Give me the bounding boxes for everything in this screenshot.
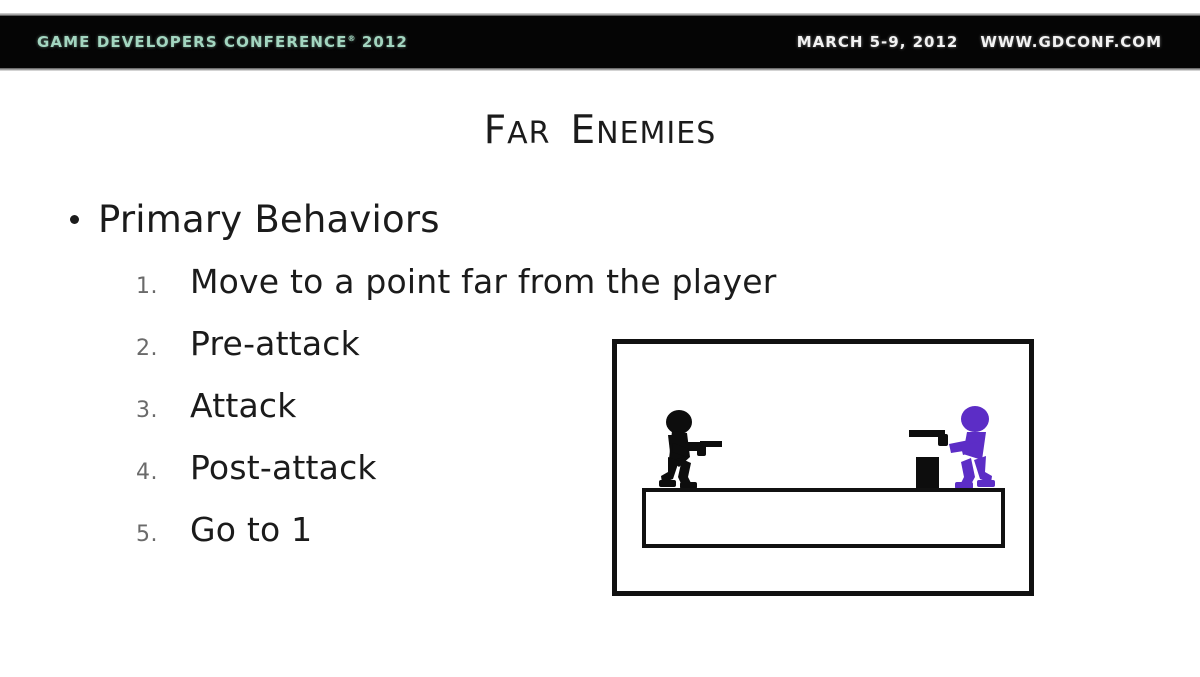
title-smallcaps-nemies: NEMIES bbox=[596, 104, 716, 154]
list-item: 4. Post-attack bbox=[136, 448, 656, 510]
far-enemy-diagram bbox=[612, 339, 1034, 596]
page-title: FARENEMIES bbox=[0, 96, 1200, 155]
list-item: 3. Attack bbox=[136, 386, 656, 448]
header-right-info: MARCH 5-9, 2012 WWW.GDCONF.COM bbox=[797, 33, 1162, 51]
list-item-number: 2. bbox=[136, 336, 190, 361]
header-bar-bottom-rule bbox=[0, 68, 1200, 71]
list-item-number: 4. bbox=[136, 460, 190, 485]
list-item-label: Move to a point far from the player bbox=[190, 262, 777, 301]
player-figure-icon bbox=[659, 409, 729, 491]
list-item-label: Go to 1 bbox=[190, 510, 312, 549]
list-item: 5. Go to 1 bbox=[136, 510, 656, 572]
slide-canvas: GAME DEVELOPERS CONFERENCE® 2012 MARCH 5… bbox=[0, 0, 1200, 677]
list-item: 1. Move to a point far from the player bbox=[136, 262, 656, 324]
diagram-inner-area bbox=[617, 344, 1029, 591]
conference-dates: MARCH 5-9, 2012 bbox=[797, 33, 959, 51]
top-white-strip bbox=[0, 0, 1200, 13]
title-cap-f: F bbox=[484, 92, 507, 157]
conference-year: 2012 bbox=[362, 33, 408, 51]
list-item-label: Pre-attack bbox=[190, 324, 360, 363]
list-item-number: 1. bbox=[136, 274, 190, 299]
title-word-far: FAR bbox=[484, 96, 551, 155]
ground-platform bbox=[642, 488, 1005, 548]
trademark-symbol: ® bbox=[347, 34, 355, 43]
list-item-number: 5. bbox=[136, 522, 190, 547]
conference-website: WWW.GDCONF.COM bbox=[980, 33, 1162, 51]
bullet-dot-icon bbox=[70, 215, 79, 224]
title-cap-e: E bbox=[571, 92, 597, 157]
gdc-header-bar: GAME DEVELOPERS CONFERENCE® 2012 MARCH 5… bbox=[0, 16, 1200, 68]
list-item-label: Attack bbox=[190, 386, 297, 425]
gdc-logo-text: GAME DEVELOPERS CONFERENCE® 2012 bbox=[37, 33, 408, 51]
list-item: 2. Pre-attack bbox=[136, 324, 656, 386]
enemy-pistol-icon bbox=[909, 430, 948, 446]
bullet-label: Primary Behaviors bbox=[98, 198, 440, 241]
behavior-steps-list: 1. Move to a point far from the player 2… bbox=[136, 262, 656, 572]
enemy-figure-icon bbox=[905, 404, 995, 492]
list-item-number: 3. bbox=[136, 398, 190, 423]
title-smallcaps-ar: AR bbox=[507, 104, 550, 154]
conference-name: GAME DEVELOPERS CONFERENCE bbox=[37, 33, 347, 51]
primary-behaviors-bullet: Primary Behaviors bbox=[70, 198, 440, 241]
title-word-enemies: ENEMIES bbox=[571, 96, 717, 155]
list-item-label: Post-attack bbox=[190, 448, 377, 487]
